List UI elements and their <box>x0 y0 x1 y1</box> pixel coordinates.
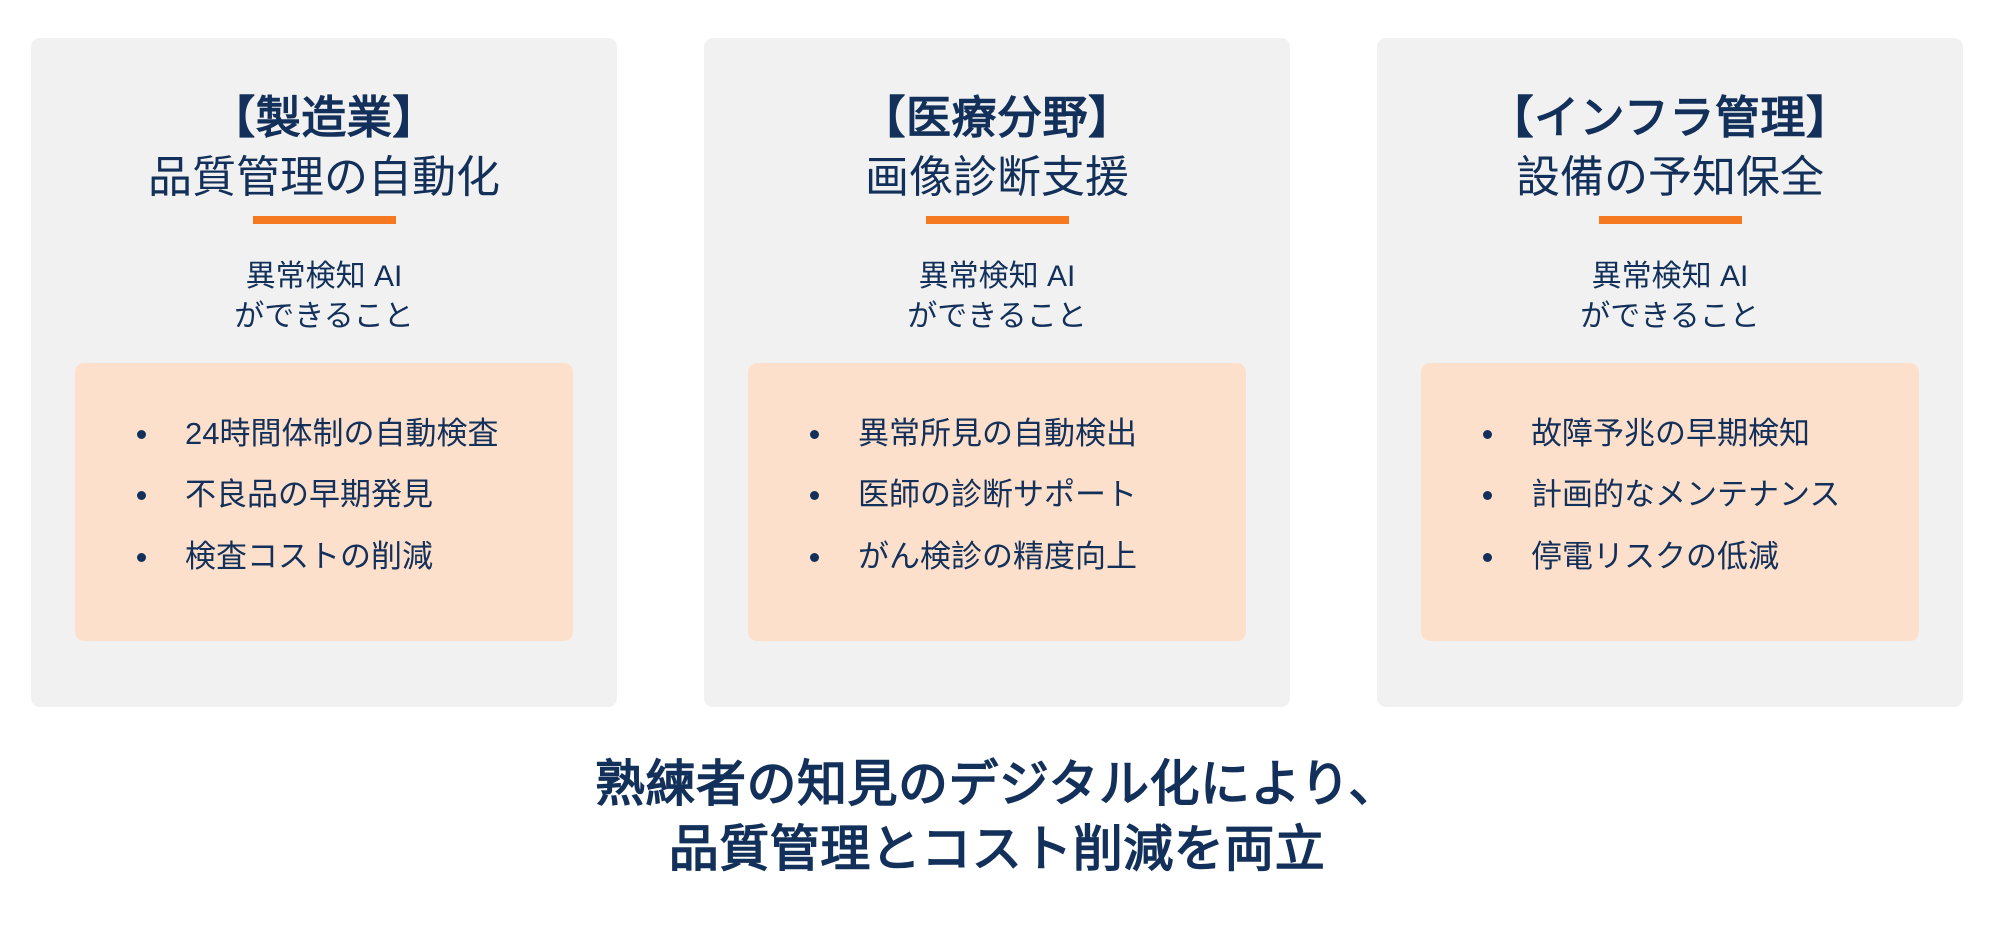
bullet-dot-icon <box>137 430 146 439</box>
card-lead: 異常検知 AI ができること <box>1580 257 1759 338</box>
card-lead: 異常検知 AI ができること <box>907 257 1086 338</box>
list-item: 不良品の早期発見 <box>75 476 573 515</box>
card-subtitle: 品質管理の自動化 <box>148 154 500 202</box>
bullet-dot-icon <box>137 553 146 562</box>
card-lead: 異常検知 AI ができること <box>234 257 413 338</box>
card-lead-line-1: 異常検知 AI <box>1580 257 1759 298</box>
list-item: 異常所見の自動検出 <box>748 415 1246 454</box>
industry-card-healthcare: 【医療分野】 画像診断支援 異常検知 AI ができること 異常所見の自動検出 医… <box>704 38 1290 707</box>
bullet-list: 故障予兆の早期検知 計画的なメンテナンス 停電リスクの低減 <box>1421 415 1919 577</box>
industry-card-infrastructure: 【インフラ管理】 設備の予知保全 異常検知 AI ができること 故障予兆の早期検… <box>1377 38 1963 707</box>
card-lead-line-2: ができること <box>907 297 1086 338</box>
card-lead-line-1: 異常検知 AI <box>234 257 413 298</box>
card-lead-line-1: 異常検知 AI <box>907 257 1086 298</box>
card-bracket-title: 【医療分野】 <box>860 94 1133 141</box>
list-item: 故障予兆の早期検知 <box>1421 415 1919 454</box>
bullet-label: 故障予兆の早期検知 <box>1531 415 1810 454</box>
orange-divider <box>253 216 396 224</box>
card-bullet-box: 故障予兆の早期検知 計画的なメンテナンス 停電リスクの低減 <box>1421 363 1919 641</box>
list-item: 計画的なメンテナンス <box>1421 476 1919 515</box>
card-subtitle: 設備の予知保全 <box>1516 154 1824 202</box>
bullet-label: 停電リスクの低減 <box>1531 538 1779 577</box>
card-lead-line-2: ができること <box>234 297 413 338</box>
bullet-list: 異常所見の自動検出 医師の診断サポート がん検診の精度向上 <box>748 415 1246 577</box>
summary-headline-line-1: 熟練者の知見のデジタル化により、 <box>595 752 1399 817</box>
card-lead-line-2: ができること <box>1580 297 1759 338</box>
bullet-dot-icon <box>137 491 146 500</box>
orange-divider <box>926 216 1069 224</box>
orange-divider <box>1599 216 1742 224</box>
bullet-label: 異常所見の自動検出 <box>858 415 1137 454</box>
list-item: がん検診の精度向上 <box>748 538 1246 577</box>
cards-row: 【製造業】 品質管理の自動化 異常検知 AI ができること 24時間体制の自動検… <box>31 38 1963 707</box>
bullet-list: 24時間体制の自動検査 不良品の早期発見 検査コストの削減 <box>75 415 573 577</box>
bullet-label: 不良品の早期発見 <box>185 476 433 515</box>
bullet-label: 計画的なメンテナンス <box>1531 476 1840 515</box>
bullet-dot-icon <box>810 553 819 562</box>
card-bracket-title: 【製造業】 <box>210 94 438 141</box>
bullet-label: 検査コストの削減 <box>185 538 433 577</box>
bullet-label: 24時間体制の自動検査 <box>185 415 498 454</box>
list-item: 24時間体制の自動検査 <box>75 415 573 454</box>
card-bullet-box: 異常所見の自動検出 医師の診断サポート がん検診の精度向上 <box>748 363 1246 641</box>
bullet-dot-icon <box>810 491 819 500</box>
card-subtitle: 画像診断支援 <box>865 154 1129 202</box>
card-bullet-box: 24時間体制の自動検査 不良品の早期発見 検査コストの削減 <box>75 363 573 641</box>
summary-headline: 熟練者の知見のデジタル化により、 品質管理とコスト削減を両立 <box>595 752 1399 882</box>
card-bracket-title: 【インフラ管理】 <box>1489 94 1852 141</box>
industry-card-manufacturing: 【製造業】 品質管理の自動化 異常検知 AI ができること 24時間体制の自動検… <box>31 38 617 707</box>
bullet-dot-icon <box>1483 430 1492 439</box>
list-item: 停電リスクの低減 <box>1421 538 1919 577</box>
slide-root: 【製造業】 品質管理の自動化 異常検知 AI ができること 24時間体制の自動検… <box>0 0 1994 928</box>
bullet-label: 医師の診断サポート <box>858 476 1137 515</box>
bullet-label: がん検診の精度向上 <box>858 538 1137 577</box>
bullet-dot-icon <box>1483 491 1492 500</box>
list-item: 医師の診断サポート <box>748 476 1246 515</box>
summary-headline-line-2: 品質管理とコスト削減を両立 <box>595 817 1399 882</box>
list-item: 検査コストの削減 <box>75 538 573 577</box>
bullet-dot-icon <box>1483 553 1492 562</box>
bullet-dot-icon <box>810 430 819 439</box>
